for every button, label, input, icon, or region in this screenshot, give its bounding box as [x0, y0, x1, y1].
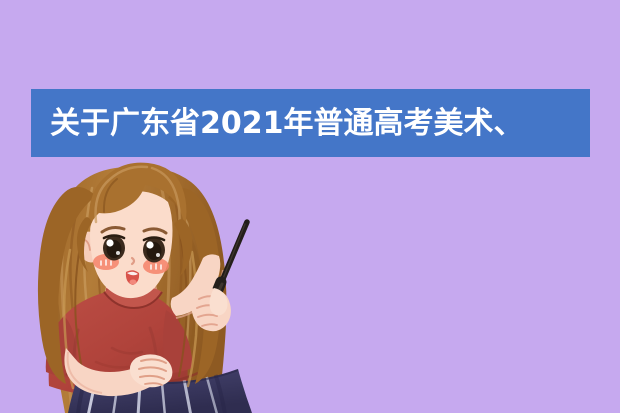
left-eye — [103, 236, 125, 261]
page-title: 关于广东省2021年普通高考美术、 — [50, 107, 524, 140]
right-eye — [143, 238, 165, 263]
screenshot-root: 关于广东省2021年普通高考美术、 — [0, 0, 620, 413]
title-banner: 关于广东省2021年普通高考美术、 — [31, 89, 590, 157]
girl-teacher-illustration — [0, 0, 620, 413]
